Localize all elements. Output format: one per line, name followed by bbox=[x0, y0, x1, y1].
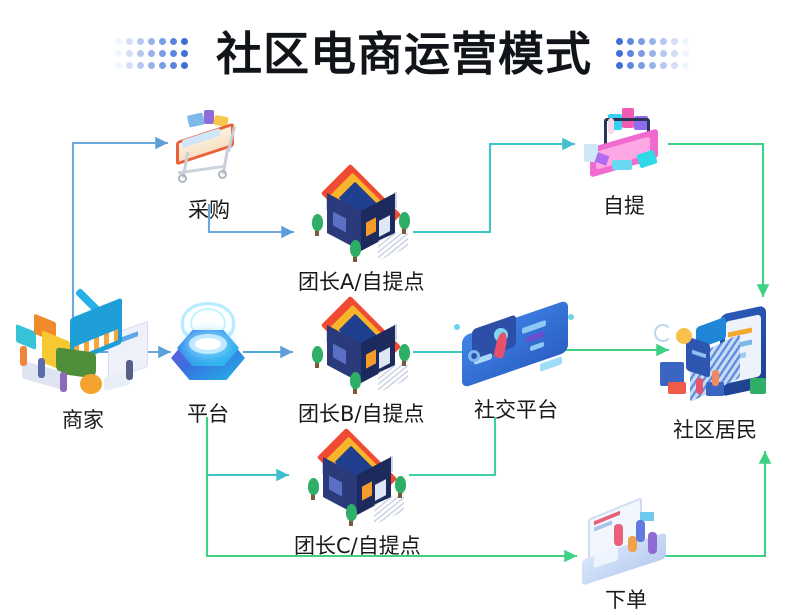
node-label-platform: 平台 bbox=[187, 398, 229, 428]
platform-hexagon-icon bbox=[163, 302, 253, 394]
decor-dot bbox=[137, 38, 144, 45]
dot-grid-left bbox=[115, 36, 192, 72]
decor-dot bbox=[170, 62, 177, 69]
decor-dot bbox=[181, 38, 188, 45]
node-platform[interactable]: 平台 bbox=[163, 302, 253, 428]
edge-merchant-purchase bbox=[73, 143, 167, 320]
node-label-residents: 社区居民 bbox=[673, 414, 757, 444]
decor-dot bbox=[616, 38, 623, 45]
decor-dot bbox=[671, 50, 678, 57]
decor-dot bbox=[627, 50, 634, 57]
decor-dot bbox=[115, 38, 122, 45]
decor-dot bbox=[616, 50, 623, 57]
node-label-social: 社交平台 bbox=[474, 394, 558, 424]
decor-dot bbox=[649, 62, 656, 69]
decor-dot bbox=[115, 62, 122, 69]
node-selfpick[interactable]: 自提 bbox=[578, 104, 670, 220]
social-device-icon bbox=[452, 304, 580, 390]
pickup-building-icon bbox=[306, 166, 416, 262]
decor-dot bbox=[682, 50, 689, 57]
decor-dot bbox=[159, 62, 166, 69]
node-label-leaderB: 团长B/自提点 bbox=[298, 398, 424, 428]
pickup-building-icon bbox=[302, 430, 412, 526]
edge-leaderA-selfpick bbox=[414, 144, 574, 232]
node-leaderC[interactable]: 团长C/自提点 bbox=[294, 430, 421, 560]
decor-dot bbox=[616, 62, 623, 69]
decor-dot bbox=[115, 50, 122, 57]
pickup-building-icon bbox=[306, 298, 416, 394]
node-label-order: 下单 bbox=[605, 584, 647, 614]
decor-dot bbox=[649, 50, 656, 57]
decor-dot bbox=[126, 38, 133, 45]
node-label-merchant: 商家 bbox=[62, 404, 104, 434]
decor-dot bbox=[137, 50, 144, 57]
shopping-cart-icon bbox=[166, 108, 252, 190]
node-label-leaderC: 团长C/自提点 bbox=[294, 530, 421, 560]
decor-dot bbox=[638, 50, 645, 57]
decor-dot bbox=[126, 62, 133, 69]
node-leaderB[interactable]: 团长B/自提点 bbox=[298, 298, 424, 428]
decor-dot bbox=[159, 38, 166, 45]
decor-dot bbox=[660, 62, 667, 69]
diagram-canvas: 社区电商运营模式 bbox=[0, 0, 808, 615]
decor-dot bbox=[181, 50, 188, 57]
node-residents[interactable]: 社区居民 bbox=[650, 300, 780, 444]
decor-dot bbox=[627, 62, 634, 69]
decor-dot bbox=[660, 38, 667, 45]
self-pickup-station-icon bbox=[578, 104, 670, 186]
node-label-selfpick: 自提 bbox=[603, 190, 645, 220]
decor-dot bbox=[649, 38, 656, 45]
page-title: 社区电商运营模式 bbox=[216, 31, 592, 77]
decor-dot bbox=[148, 62, 155, 69]
decor-dot bbox=[638, 62, 645, 69]
decor-dot bbox=[126, 50, 133, 57]
decor-dot bbox=[671, 62, 678, 69]
community-residents-icon bbox=[650, 300, 780, 410]
decor-dot bbox=[627, 38, 634, 45]
merchant-storefront-icon bbox=[8, 300, 158, 400]
decor-dot bbox=[148, 38, 155, 45]
place-order-icon bbox=[574, 506, 678, 580]
decor-dot bbox=[682, 38, 689, 45]
dot-grid-right bbox=[616, 36, 693, 72]
decor-dot bbox=[159, 50, 166, 57]
node-merchant[interactable]: 商家 bbox=[8, 300, 158, 434]
decor-dot bbox=[170, 38, 177, 45]
decor-dot bbox=[682, 62, 689, 69]
node-leaderA[interactable]: 团长A/自提点 bbox=[298, 166, 424, 296]
node-label-leaderA: 团长A/自提点 bbox=[298, 266, 424, 296]
decor-dot bbox=[170, 50, 177, 57]
title-bar: 社区电商运营模式 bbox=[0, 20, 808, 88]
decor-dot bbox=[148, 50, 155, 57]
decor-dot bbox=[137, 62, 144, 69]
decor-dot bbox=[671, 38, 678, 45]
edge-selfpick-residents bbox=[669, 144, 763, 296]
node-social[interactable]: 社交平台 bbox=[452, 304, 580, 424]
decor-dot bbox=[660, 50, 667, 57]
node-purchase[interactable]: 采购 bbox=[166, 108, 252, 224]
node-order[interactable]: 下单 bbox=[574, 506, 678, 614]
node-label-purchase: 采购 bbox=[188, 194, 230, 224]
decor-dot bbox=[181, 62, 188, 69]
decor-dot bbox=[638, 38, 645, 45]
